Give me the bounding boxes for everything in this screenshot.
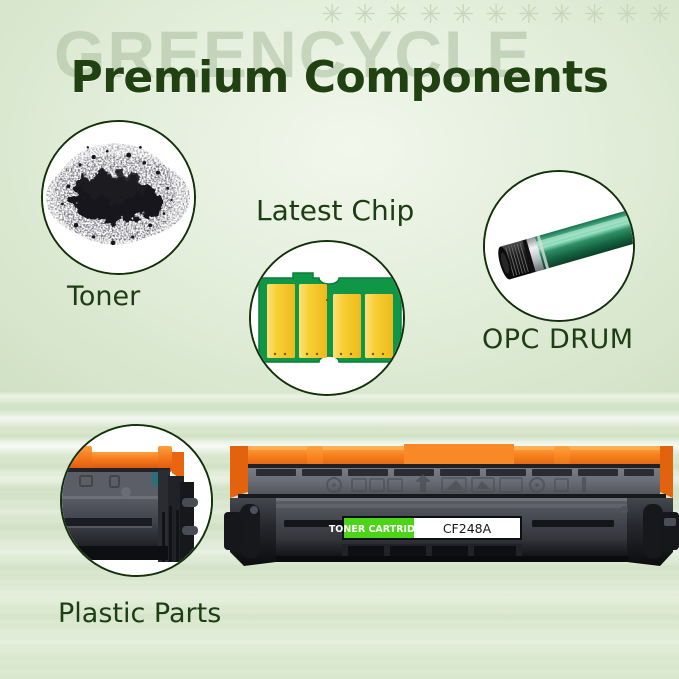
- label-badge-text: TONER CARTRIDGE: [329, 524, 429, 535]
- feature-circle-opc-drum: [483, 170, 635, 322]
- opc-drum-roller-icon: [485, 172, 635, 322]
- product-cartridge: TONER CARTRIDGE CF248A: [224, 432, 679, 572]
- feature-label-chip: Latest Chip: [256, 194, 414, 227]
- asterisk-decoration: ✳✳✳✳✳✳✳✳✳✳✳: [321, 2, 671, 28]
- asterisk-icon: ✳: [551, 2, 573, 28]
- asterisk-icon: ✳: [452, 2, 474, 28]
- chip-pcb-icon: [251, 242, 405, 396]
- cartridge-closeup-icon: [62, 426, 213, 577]
- promo-image: GREENCYCLE ✳✳✳✳✳✳✳✳✳✳✳ Premium Component…: [0, 0, 679, 679]
- feature-circle-toner: [41, 120, 196, 275]
- asterisk-icon: ✳: [616, 2, 638, 28]
- asterisk-icon: ✳: [649, 2, 671, 28]
- toner-cartridge-illustration: TONER CARTRIDGE CF248A: [224, 432, 679, 572]
- feature-circle-plastic-parts: [60, 424, 213, 577]
- label-model-text: CF248A: [443, 521, 492, 536]
- feature-label-opc-drum: OPC DRUM: [482, 324, 634, 355]
- feature-label-toner: Toner: [67, 281, 140, 312]
- asterisk-icon: ✳: [584, 2, 606, 28]
- asterisk-icon: ✳: [420, 2, 442, 28]
- asterisk-icon: ✳: [485, 2, 507, 28]
- toner-powder-icon: [43, 122, 194, 273]
- asterisk-icon: ✳: [387, 2, 409, 28]
- asterisk-icon: ✳: [321, 2, 343, 28]
- asterisk-icon: ✳: [354, 2, 376, 28]
- asterisk-icon: ✳: [518, 2, 540, 28]
- feature-circle-chip: [249, 240, 405, 396]
- feature-label-plastic-parts: Plastic Parts: [58, 598, 221, 629]
- page-title: Premium Components: [0, 52, 679, 103]
